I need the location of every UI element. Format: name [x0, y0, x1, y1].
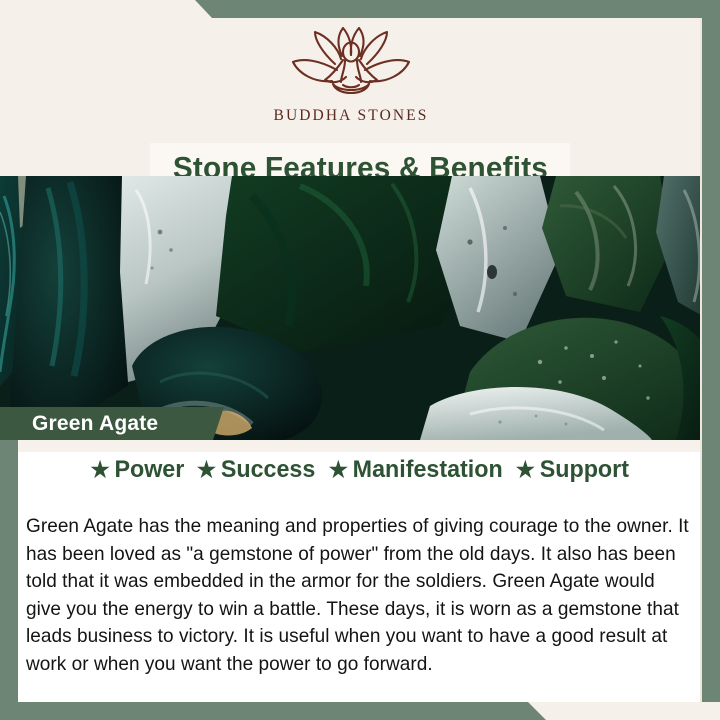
benefit-item-success: ★ Success [197, 456, 315, 484]
benefit-label: Manifestation [353, 456, 503, 484]
brand-logo: BUDDHA STONES [0, 26, 702, 125]
bottom-bar [0, 702, 720, 720]
stone-name-banner: Green Agate [0, 407, 224, 440]
stone-description: Green Agate has the meaning and properti… [26, 513, 691, 678]
benefit-label: Success [221, 456, 315, 484]
right-green-edge [702, 18, 720, 702]
star-icon: ★ [197, 459, 216, 481]
header-panel: BUDDHA STONES Stone Features & Benefits [0, 18, 702, 176]
stone-name: Green Agate [0, 412, 158, 436]
bottom-green-wedge [0, 702, 546, 720]
benefit-label: Support [540, 456, 629, 484]
stone-info-card: BUDDHA STONES Stone Features & Benefits [0, 0, 720, 720]
benefit-item-manifestation: ★ Manifestation [329, 456, 503, 484]
stone-photo [0, 176, 720, 440]
benefits-row: ★ Power ★ Success ★ Manifestation ★ Supp… [18, 456, 702, 484]
star-icon: ★ [516, 459, 535, 481]
top-left-cream-notch [0, 0, 212, 18]
content-top-strip [18, 440, 702, 452]
brand-name: BUDDHA STONES [274, 107, 429, 125]
benefit-item-support: ★ Support [516, 456, 629, 484]
right-cream-hairline [700, 18, 702, 702]
star-icon: ★ [90, 459, 109, 481]
star-icon: ★ [329, 459, 348, 481]
benefit-item-power: ★ Power [90, 456, 184, 484]
benefit-label: Power [114, 456, 184, 484]
lotus-meditation-icon [275, 26, 427, 104]
content-panel: ★ Power ★ Success ★ Manifestation ★ Supp… [18, 440, 702, 702]
